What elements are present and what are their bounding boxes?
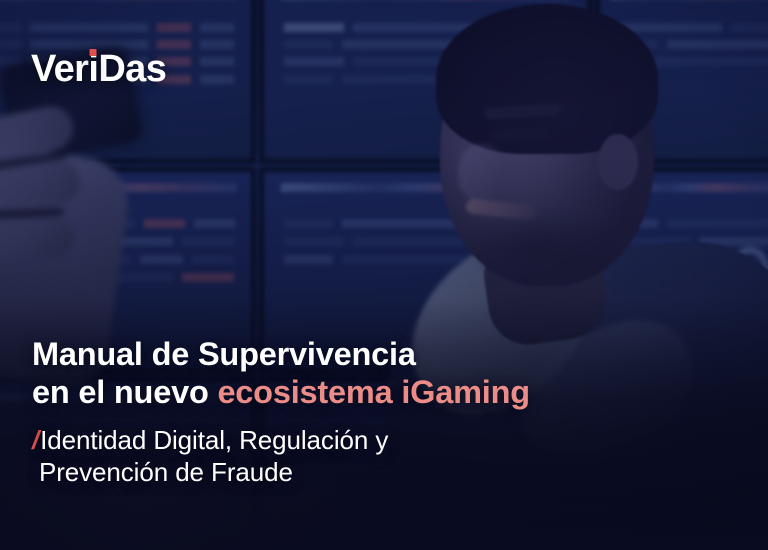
logo-text-part1: Ver xyxy=(31,50,88,88)
title-line-2-plain: en el nuevo xyxy=(32,374,217,410)
veridas-logo[interactable]: VeriDas xyxy=(31,50,166,88)
subtitle-line-1: Identidad Digital, Regulación y xyxy=(40,425,388,455)
logo-i-letter: i xyxy=(88,50,98,88)
cover-content: VeriDas Manual de Supervivencia en el nu… xyxy=(0,0,768,550)
logo-text-part2: Das xyxy=(98,50,166,88)
subtitle-line-2: Prevención de Fraude xyxy=(32,456,530,488)
ebook-cover-banner: VeriDas Manual de Supervivencia en el nu… xyxy=(0,0,768,550)
page-subtitle: /Identidad Digital, Regulación y Prevenc… xyxy=(32,424,530,488)
page-title: Manual de Supervivencia en el nuevo ecos… xyxy=(32,335,530,412)
title-block: Manual de Supervivencia en el nuevo ecos… xyxy=(32,335,530,488)
logo-accent-dot-icon xyxy=(90,49,97,56)
subtitle-slash-icon: / xyxy=(32,425,39,455)
title-line-1: Manual de Supervivencia xyxy=(32,336,416,372)
title-line-2-accent: ecosistema iGaming xyxy=(217,374,530,410)
